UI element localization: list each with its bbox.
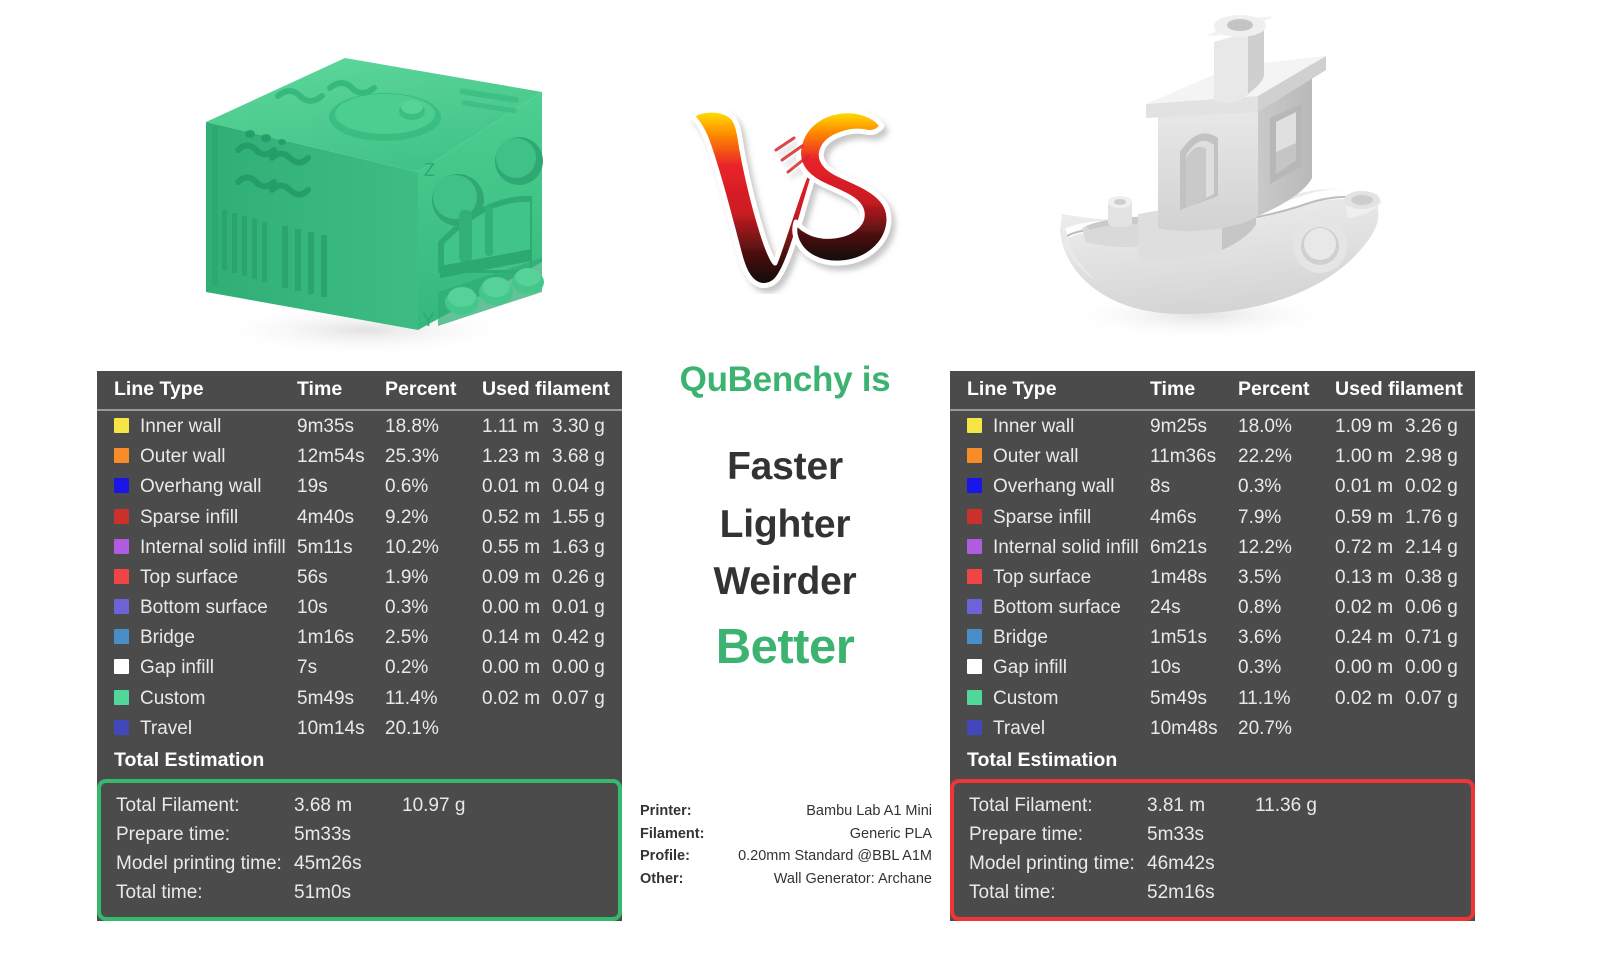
line-type-name: Bridge	[993, 626, 1048, 649]
cell-length: 0.59 m	[1335, 502, 1405, 532]
summary-row: Total time:51m0s	[101, 878, 618, 907]
cell-length: 0.01 m	[482, 471, 552, 501]
cell-length: 0.00 m	[482, 652, 552, 682]
cell-weight: 0.38 g	[1405, 562, 1475, 592]
table-row: Bottom surface10s0.3%0.00 m0.01 g	[97, 592, 622, 622]
claim-highlight: Better	[640, 611, 930, 685]
cell-weight: 3.26 g	[1405, 410, 1475, 441]
table-row: Bridge1m51s3.6%0.24 m0.71 g	[950, 622, 1475, 652]
svg-text:Y: Y	[422, 310, 435, 331]
line-type-name: Outer wall	[993, 445, 1079, 468]
printer-info-key: Filament:	[640, 823, 708, 846]
cell-weight: 0.42 g	[552, 622, 622, 652]
cell-weight: 0.07 g	[1405, 683, 1475, 713]
printer-info: Printer:Bambu Lab A1 MiniFilament:Generi…	[640, 800, 932, 890]
summary-row: Prepare time:5m33s	[954, 820, 1471, 849]
cell-line-type: Bottom surface	[950, 592, 1150, 622]
cell-weight: 0.71 g	[1405, 622, 1475, 652]
cell-line-type: Outer wall	[97, 441, 297, 471]
cell-length	[1335, 713, 1405, 743]
cell-length: 0.55 m	[482, 532, 552, 562]
summary-row: Prepare time:5m33s	[101, 820, 618, 849]
cell-length: 0.00 m	[482, 592, 552, 622]
cell-percent: 1.9%	[385, 562, 482, 592]
cell-weight: 1.63 g	[552, 532, 622, 562]
printer-info-row: Other:Wall Generator: Archane	[640, 868, 932, 891]
cell-line-type: Bottom surface	[97, 592, 297, 622]
summary-row: Total Filament:3.68 m10.97 g	[101, 791, 618, 820]
color-swatch-outer-wall	[114, 448, 129, 463]
cell-time: 56s	[297, 562, 385, 592]
printer-info-value: 0.20mm Standard @BBL A1M	[708, 845, 932, 868]
cell-time: 10m14s	[297, 713, 385, 743]
cell-percent: 2.5%	[385, 622, 482, 652]
cell-length: 0.00 m	[1335, 652, 1405, 682]
header-line-type: Line Type	[97, 371, 297, 410]
table-row: Inner wall9m25s18.0%1.09 m3.26 g	[950, 410, 1475, 441]
summary-value-2: 11.36 g	[1255, 791, 1471, 820]
summary-value-2: 10.97 g	[402, 791, 618, 820]
cell-line-type: Overhang wall	[97, 471, 297, 501]
cell-line-type: Travel	[97, 713, 297, 743]
cell-length: 1.11 m	[482, 410, 552, 441]
cell-time: 1m16s	[297, 622, 385, 652]
cell-weight: 2.98 g	[1405, 441, 1475, 471]
qubenchy-stats-panel: Line Type Time Percent Used filament Inn…	[97, 371, 622, 921]
color-swatch-sparse-infill	[967, 509, 982, 524]
cell-time: 1m48s	[1150, 562, 1238, 592]
color-swatch-internal-solid-infill	[967, 539, 982, 554]
cell-percent: 22.2%	[1238, 441, 1335, 471]
cell-weight: 0.07 g	[552, 683, 622, 713]
cell-length	[482, 713, 552, 743]
table-row: Custom5m49s11.1%0.02 m0.07 g	[950, 683, 1475, 713]
table-row: Travel10m48s20.7%	[950, 713, 1475, 743]
line-type-name: Gap infill	[993, 656, 1067, 679]
table-row: Travel10m14s20.1%	[97, 713, 622, 743]
printer-info-row: Printer:Bambu Lab A1 Mini	[640, 800, 932, 823]
cell-time: 5m49s	[1150, 683, 1238, 713]
summary-label: Total Filament:	[101, 791, 294, 820]
line-type-name: Outer wall	[140, 445, 226, 468]
printer-info-key: Profile:	[640, 845, 708, 868]
header-time: Time	[297, 371, 385, 410]
vs-logo: VS	[668, 98, 904, 294]
cell-percent: 12.2%	[1238, 532, 1335, 562]
color-swatch-inner-wall	[114, 418, 129, 433]
cell-time: 9m25s	[1150, 410, 1238, 441]
line-type-name: Sparse infill	[140, 506, 238, 529]
color-swatch-inner-wall	[967, 418, 982, 433]
cell-percent: 3.5%	[1238, 562, 1335, 592]
summary-box-left: Total Filament:3.68 m10.97 gPrepare time…	[97, 779, 622, 921]
line-type-name: Custom	[993, 687, 1058, 710]
cell-line-type: Bridge	[97, 622, 297, 652]
cell-weight: 2.14 g	[1405, 532, 1475, 562]
cell-percent: 0.3%	[1238, 471, 1335, 501]
total-estimation-label-left: Total Estimation	[97, 743, 622, 779]
color-swatch-top-surface	[967, 569, 982, 584]
cell-time: 9m35s	[297, 410, 385, 441]
line-type-name: Overhang wall	[140, 475, 261, 498]
cell-time: 10m48s	[1150, 713, 1238, 743]
cell-time: 8s	[1150, 471, 1238, 501]
line-type-name: Bottom surface	[993, 596, 1121, 619]
cell-line-type: Custom	[950, 683, 1150, 713]
summary-label: Total time:	[101, 878, 294, 907]
summary-value-1: 5m33s	[1147, 820, 1255, 849]
cell-percent: 10.2%	[385, 532, 482, 562]
table-row: Bridge1m16s2.5%0.14 m0.42 g	[97, 622, 622, 652]
cell-weight	[552, 713, 622, 743]
line-type-name: Top surface	[140, 566, 238, 589]
summary-value-1: 45m26s	[294, 849, 402, 878]
cell-time: 6m21s	[1150, 532, 1238, 562]
summary-label: Prepare time:	[101, 820, 294, 849]
summary-row: Total time:52m16s	[954, 878, 1471, 907]
header-percent: Percent	[385, 371, 482, 410]
table-row: Inner wall9m35s18.8%1.11 m3.30 g	[97, 410, 622, 441]
summary-value-2	[1255, 820, 1471, 849]
table-row: Outer wall11m36s22.2%1.00 m2.98 g	[950, 441, 1475, 471]
cell-length: 0.02 m	[482, 683, 552, 713]
summary-value-2	[402, 878, 618, 907]
cell-length: 0.13 m	[1335, 562, 1405, 592]
cell-weight: 0.00 g	[1405, 652, 1475, 682]
table-row: Sparse infill4m40s9.2%0.52 m1.55 g	[97, 502, 622, 532]
summary-value-1: 46m42s	[1147, 849, 1255, 878]
summary-value-2	[1255, 849, 1471, 878]
header-time: Time	[1150, 371, 1238, 410]
cell-time: 4m6s	[1150, 502, 1238, 532]
cell-percent: 18.0%	[1238, 410, 1335, 441]
color-swatch-top-surface	[114, 569, 129, 584]
table-row: Overhang wall19s0.6%0.01 m0.04 g	[97, 471, 622, 501]
line-type-table-right: Line Type Time Percent Used filament Inn…	[950, 371, 1475, 743]
summary-value-2	[402, 849, 618, 878]
table-row: Sparse infill4m6s7.9%0.59 m1.76 g	[950, 502, 1475, 532]
cell-line-type: Internal solid infill	[950, 532, 1150, 562]
color-swatch-bottom-surface	[114, 599, 129, 614]
cell-line-type: Internal solid infill	[97, 532, 297, 562]
cell-percent: 7.9%	[1238, 502, 1335, 532]
table-header-row: Line Type Time Percent Used filament	[97, 371, 622, 410]
cell-percent: 0.3%	[1238, 652, 1335, 682]
table-row: Top surface1m48s3.5%0.13 m0.38 g	[950, 562, 1475, 592]
header-used-filament: Used filament	[1335, 371, 1475, 410]
summary-label: Prepare time:	[954, 820, 1147, 849]
cell-percent: 20.7%	[1238, 713, 1335, 743]
cell-line-type: Outer wall	[950, 441, 1150, 471]
cell-length: 0.14 m	[482, 622, 552, 652]
cell-length: 1.09 m	[1335, 410, 1405, 441]
cell-time: 4m40s	[297, 502, 385, 532]
cell-line-type: Gap infill	[950, 652, 1150, 682]
cell-percent: 18.8%	[385, 410, 482, 441]
center-title: QuBenchy is	[640, 360, 930, 400]
cell-weight: 0.01 g	[552, 592, 622, 622]
cell-percent: 0.8%	[1238, 592, 1335, 622]
summary-label: Total time:	[954, 878, 1147, 907]
cell-percent: 0.6%	[385, 471, 482, 501]
summary-value-1: 5m33s	[294, 820, 402, 849]
cell-line-type: Inner wall	[97, 410, 297, 441]
color-swatch-sparse-infill	[114, 509, 129, 524]
color-swatch-outer-wall	[967, 448, 982, 463]
color-swatch-gap-infill	[114, 659, 129, 674]
cell-line-type: Custom	[97, 683, 297, 713]
cell-time: 12m54s	[297, 441, 385, 471]
cell-time: 7s	[297, 652, 385, 682]
cell-percent: 3.6%	[1238, 622, 1335, 652]
cell-weight: 3.30 g	[552, 410, 622, 441]
claim-1: Lighter	[640, 496, 930, 554]
line-type-name: Internal solid infill	[993, 536, 1139, 559]
cell-time: 5m49s	[297, 683, 385, 713]
cell-length: 0.72 m	[1335, 532, 1405, 562]
cell-percent: 0.3%	[385, 592, 482, 622]
cell-weight: 0.26 g	[552, 562, 622, 592]
cell-time: 11m36s	[1150, 441, 1238, 471]
spacer	[640, 400, 930, 438]
cell-weight: 1.55 g	[552, 502, 622, 532]
line-type-name: Top surface	[993, 566, 1091, 589]
line-type-name: Sparse infill	[993, 506, 1091, 529]
benchy-stats-panel: Line Type Time Percent Used filament Inn…	[950, 371, 1475, 921]
line-type-name: Custom	[140, 687, 205, 710]
cell-weight: 1.76 g	[1405, 502, 1475, 532]
line-type-name: Travel	[140, 717, 192, 740]
table-row: Internal solid infill5m11s10.2%0.55 m1.6…	[97, 532, 622, 562]
header-used-filament: Used filament	[482, 371, 622, 410]
table-row: Bottom surface24s0.8%0.02 m0.06 g	[950, 592, 1475, 622]
cell-line-type: Top surface	[97, 562, 297, 592]
line-type-name: Inner wall	[140, 415, 221, 438]
cell-weight: 0.06 g	[1405, 592, 1475, 622]
line-type-name: Overhang wall	[993, 475, 1114, 498]
cell-length: 0.09 m	[482, 562, 552, 592]
cell-line-type: Overhang wall	[950, 471, 1150, 501]
total-estimation-label-right: Total Estimation	[950, 743, 1475, 779]
line-type-name: Travel	[993, 717, 1045, 740]
cell-percent: 9.2%	[385, 502, 482, 532]
summary-value-1: 3.81 m	[1147, 791, 1255, 820]
cell-length: 1.00 m	[1335, 441, 1405, 471]
cell-time: 1m51s	[1150, 622, 1238, 652]
printer-info-row: Profile:0.20mm Standard @BBL A1M	[640, 845, 932, 868]
cell-weight: 3.68 g	[552, 441, 622, 471]
cell-line-type: Gap infill	[97, 652, 297, 682]
summary-row: Total Filament:3.81 m11.36 g	[954, 791, 1471, 820]
claim-0: Faster	[640, 438, 930, 496]
cell-line-type: Travel	[950, 713, 1150, 743]
claim-2: Weirder	[640, 553, 930, 611]
color-swatch-overhang-wall	[114, 478, 129, 493]
cell-time: 24s	[1150, 592, 1238, 622]
summary-value-1: 52m16s	[1147, 878, 1255, 907]
summary-value-2	[1255, 878, 1471, 907]
cell-time: 10s	[297, 592, 385, 622]
line-type-table-left: Line Type Time Percent Used filament Inn…	[97, 371, 622, 743]
cell-percent: 0.2%	[385, 652, 482, 682]
cell-line-type: Sparse infill	[950, 502, 1150, 532]
color-swatch-custom	[967, 690, 982, 705]
color-swatch-bridge	[114, 629, 129, 644]
line-type-name: Inner wall	[993, 415, 1074, 438]
cell-percent: 11.4%	[385, 683, 482, 713]
cell-weight: 0.00 g	[552, 652, 622, 682]
cell-time: 5m11s	[297, 532, 385, 562]
color-swatch-bridge	[967, 629, 982, 644]
cell-weight: 0.04 g	[552, 471, 622, 501]
table-row: Gap infill7s0.2%0.00 m0.00 g	[97, 652, 622, 682]
cell-weight	[1405, 713, 1475, 743]
printer-info-value: Generic PLA	[708, 823, 932, 846]
cell-weight: 0.02 g	[1405, 471, 1475, 501]
summary-row: Model printing time:46m42s	[954, 849, 1471, 878]
table-row: Custom5m49s11.4%0.02 m0.07 g	[97, 683, 622, 713]
cell-line-type: Top surface	[950, 562, 1150, 592]
summary-label: Total Filament:	[954, 791, 1147, 820]
printer-info-value: Bambu Lab A1 Mini	[708, 800, 932, 823]
color-swatch-travel	[967, 720, 982, 735]
cell-length: 0.02 m	[1335, 683, 1405, 713]
color-swatch-gap-infill	[967, 659, 982, 674]
cell-time: 10s	[1150, 652, 1238, 682]
printer-info-row: Filament:Generic PLA	[640, 823, 932, 846]
cell-percent: 25.3%	[385, 441, 482, 471]
color-swatch-bottom-surface	[967, 599, 982, 614]
table-header-row: Line Type Time Percent Used filament	[950, 371, 1475, 410]
benchy-model-render	[990, 0, 1410, 345]
summary-box-right: Total Filament:3.81 m11.36 gPrepare time…	[950, 779, 1475, 921]
svg-text:Z: Z	[424, 160, 435, 180]
line-type-name: Bridge	[140, 626, 195, 649]
color-swatch-custom	[114, 690, 129, 705]
cell-time: 19s	[297, 471, 385, 501]
color-swatch-overhang-wall	[967, 478, 982, 493]
table-row: Top surface56s1.9%0.09 m0.26 g	[97, 562, 622, 592]
cell-line-type: Bridge	[950, 622, 1150, 652]
color-swatch-travel	[114, 720, 129, 735]
summary-label: Model printing time:	[101, 849, 294, 878]
line-type-name: Gap infill	[140, 656, 214, 679]
center-message: QuBenchy is Faster Lighter Weirder Bette…	[640, 360, 930, 685]
summary-row: Model printing time:45m26s	[101, 849, 618, 878]
cell-length: 0.52 m	[482, 502, 552, 532]
header-line-type: Line Type	[950, 371, 1150, 410]
summary-value-1: 3.68 m	[294, 791, 402, 820]
cell-line-type: Sparse infill	[97, 502, 297, 532]
qubenchy-model-render: Z Y	[150, 30, 570, 360]
summary-label: Model printing time:	[954, 849, 1147, 878]
printer-info-key: Other:	[640, 868, 708, 891]
cell-length: 1.23 m	[482, 441, 552, 471]
table-row: Outer wall12m54s25.3%1.23 m3.68 g	[97, 441, 622, 471]
color-swatch-internal-solid-infill	[114, 539, 129, 554]
header-percent: Percent	[1238, 371, 1335, 410]
table-row: Overhang wall8s0.3%0.01 m0.02 g	[950, 471, 1475, 501]
cell-percent: 11.1%	[1238, 683, 1335, 713]
cell-line-type: Inner wall	[950, 410, 1150, 441]
cell-percent: 20.1%	[385, 713, 482, 743]
printer-info-key: Printer:	[640, 800, 708, 823]
table-row: Internal solid infill6m21s12.2%0.72 m2.1…	[950, 532, 1475, 562]
line-type-name: Bottom surface	[140, 596, 268, 619]
summary-value-1: 51m0s	[294, 878, 402, 907]
line-type-name: Internal solid infill	[140, 536, 286, 559]
printer-info-value: Wall Generator: Archane	[708, 868, 932, 891]
table-row: Gap infill10s0.3%0.00 m0.00 g	[950, 652, 1475, 682]
summary-value-2	[402, 820, 618, 849]
comparison-infographic: Z Y	[0, 0, 1600, 960]
cell-length: 0.02 m	[1335, 592, 1405, 622]
cell-length: 0.24 m	[1335, 622, 1405, 652]
cell-length: 0.01 m	[1335, 471, 1405, 501]
